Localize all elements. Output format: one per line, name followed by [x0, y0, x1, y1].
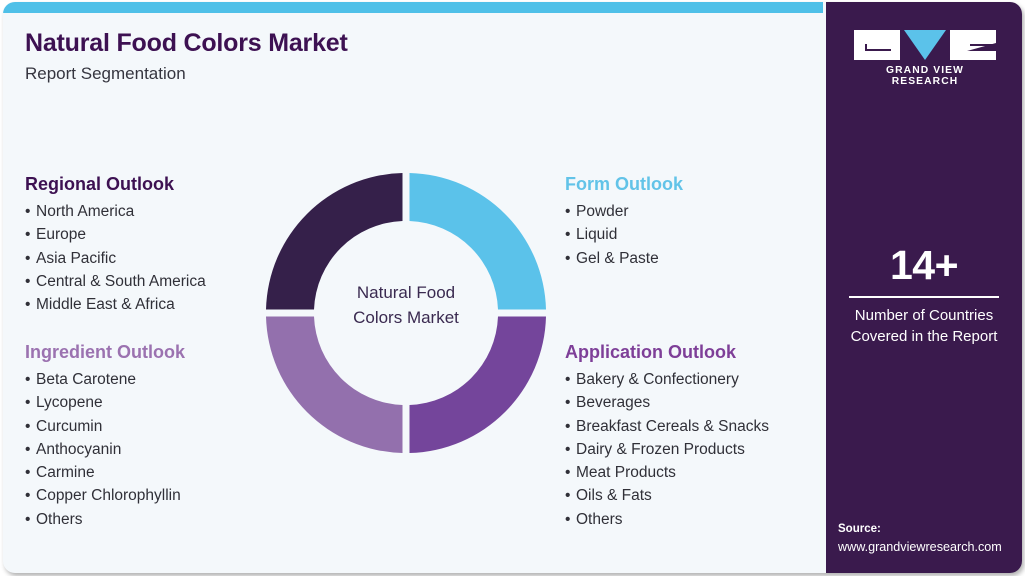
list-item: Europe: [25, 223, 206, 246]
list-item: Middle East & Africa: [25, 293, 206, 316]
regional-outlook-list: North America Europe Asia Pacific Centra…: [25, 200, 206, 316]
form-outlook-list: Powder Liquid Gel & Paste: [565, 200, 683, 270]
header: Natural Food Colors Market Report Segmen…: [25, 27, 725, 87]
list-item: Asia Pacific: [25, 247, 206, 270]
list-item: Gel & Paste: [565, 247, 683, 270]
stat-caption-line-1: Number of Countries: [842, 305, 1006, 326]
source-url[interactable]: www.grandviewresearch.com: [838, 538, 1022, 556]
list-item: Curcumin: [25, 415, 185, 438]
list-item: Dairy & Frozen Products: [565, 438, 769, 461]
ingredient-outlook-title: Ingredient Outlook: [25, 340, 185, 364]
report-card: Natural Food Colors Market Report Segmen…: [3, 2, 1022, 573]
list-item: Central & South America: [25, 270, 206, 293]
source-label: Source:: [838, 521, 1022, 538]
list-item: Anthocyanin: [25, 438, 185, 461]
countries-stat-block: 14+ Number of Countries Covered in the R…: [842, 242, 1006, 347]
regional-outlook-block: Regional Outlook North America Europe As…: [25, 172, 206, 316]
page-title: Natural Food Colors Market: [25, 27, 725, 59]
donut-center-line-1: Natural Food: [261, 280, 551, 305]
list-item: Oils & Fats: [565, 484, 769, 507]
regional-outlook-title: Regional Outlook: [25, 172, 206, 196]
grand-view-research-logo: GRAND VIEW RESEARCH: [854, 30, 996, 87]
list-item: Breakfast Cereals & Snacks: [565, 415, 769, 438]
list-item: Beverages: [565, 391, 769, 414]
form-outlook-title: Form Outlook: [565, 172, 683, 196]
donut-segment-ingredient: [266, 317, 403, 454]
page-subtitle: Report Segmentation: [25, 61, 725, 87]
stat-divider: [849, 296, 999, 298]
list-item: Bakery & Confectionery: [565, 368, 769, 391]
donut-center-label: Natural Food Colors Market: [261, 280, 551, 330]
countries-stat-value: 14+: [842, 242, 1006, 288]
list-item: Carmine: [25, 461, 185, 484]
logo-wordmark: GRAND VIEW RESEARCH: [854, 65, 996, 87]
ingredient-outlook-list: Beta Carotene Lycopene Curcumin Anthocya…: [25, 368, 185, 531]
donut-segment-application: [410, 317, 547, 454]
donut-center-line-2: Colors Market: [261, 305, 551, 330]
application-outlook-block: Application Outlook Bakery & Confectione…: [565, 340, 769, 531]
ingredient-outlook-block: Ingredient Outlook Beta Carotene Lycopen…: [25, 340, 185, 531]
list-item: Beta Carotene: [25, 368, 185, 391]
segmentation-donut-chart: Natural Food Colors Market: [261, 168, 551, 458]
infographic-root: Natural Food Colors Market Report Segmen…: [0, 0, 1025, 576]
list-item: Copper Chlorophyllin: [25, 484, 185, 507]
list-item: Others: [565, 508, 769, 531]
list-item: Others: [25, 508, 185, 531]
list-item: Powder: [565, 200, 683, 223]
top-accent-bar: [3, 2, 823, 13]
list-item: Liquid: [565, 223, 683, 246]
list-item: North America: [25, 200, 206, 223]
list-item: Meat Products: [565, 461, 769, 484]
countries-stat-caption: Number of Countries Covered in the Repor…: [842, 305, 1006, 347]
list-item: Lycopene: [25, 391, 185, 414]
application-outlook-title: Application Outlook: [565, 340, 769, 364]
source-block: Source: www.grandviewresearch.com: [838, 521, 1022, 556]
form-outlook-block: Form Outlook Powder Liquid Gel & Paste: [565, 172, 683, 270]
gvr-logo-icon: [854, 30, 996, 60]
application-outlook-list: Bakery & Confectionery Beverages Breakfa…: [565, 368, 769, 531]
brand-sidebar: GRAND VIEW RESEARCH 14+ Number of Countr…: [826, 2, 1022, 573]
stat-caption-line-2: Covered in the Report: [842, 326, 1006, 347]
